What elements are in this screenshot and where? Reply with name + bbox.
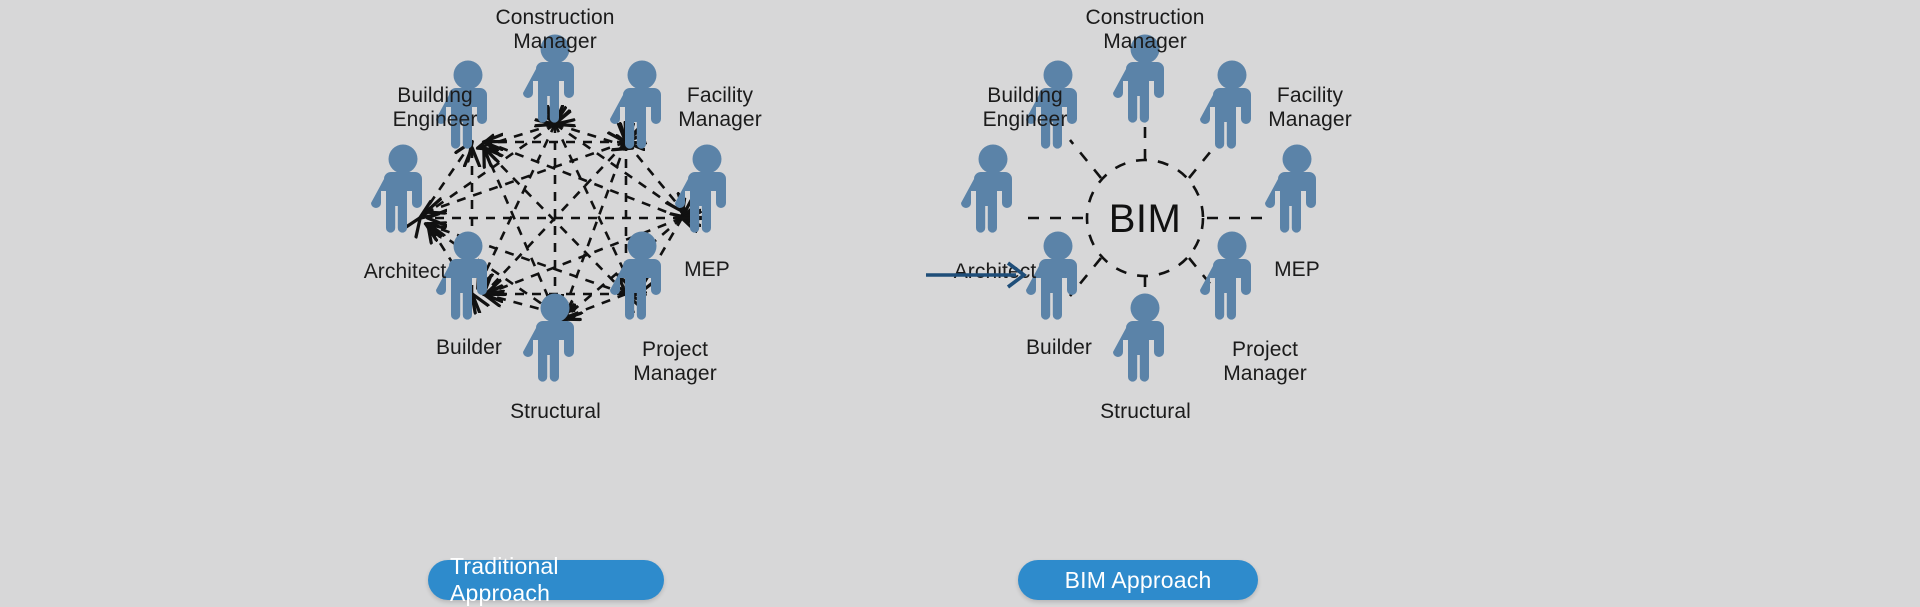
person-icon-project-manager xyxy=(1200,232,1251,320)
person-icon-construction-manager xyxy=(1113,35,1164,123)
bim-hub-graphic: BIM xyxy=(810,0,1530,540)
person-icon-project-manager xyxy=(610,232,661,320)
person-icon-structural xyxy=(1113,294,1164,382)
diagram-canvas: Construction Manager Facility Manager ME… xyxy=(0,0,1920,600)
person-icon-facility-manager xyxy=(610,61,661,149)
person-icon-mep xyxy=(1265,145,1316,233)
person-icon-facility-manager xyxy=(1200,61,1251,149)
person-icon-builder xyxy=(1026,232,1077,320)
person-icon-architect xyxy=(961,145,1012,233)
person-icon-builder xyxy=(436,232,487,320)
person-icon-construction-manager xyxy=(523,35,574,123)
bim-approach-panel: BIM xyxy=(810,0,1530,600)
person-icon-building-engineer xyxy=(436,61,487,149)
traditional-approach-caption-button[interactable]: Traditional Approach xyxy=(428,560,664,600)
transition-right-arrow-icon xyxy=(924,258,1030,292)
person-icon-group xyxy=(371,35,726,382)
bim-approach-caption-button[interactable]: BIM Approach xyxy=(1018,560,1258,600)
bim-hub-label: BIM xyxy=(1109,197,1182,241)
person-icon-architect xyxy=(371,145,422,233)
person-icon-building-engineer xyxy=(1026,61,1077,149)
